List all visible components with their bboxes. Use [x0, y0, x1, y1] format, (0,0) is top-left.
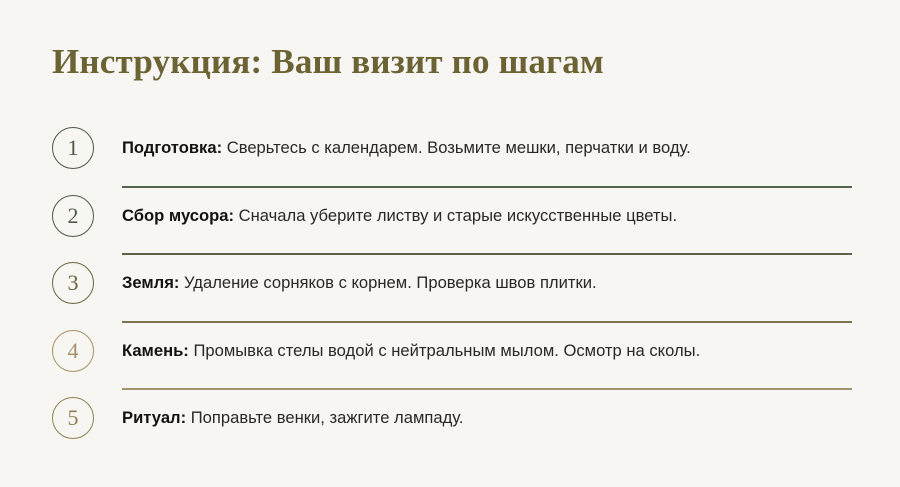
step-label: Сбор мусора:: [122, 206, 234, 225]
instruction-card: Инструкция: Ваш визит по шагам 1 Подгото…: [0, 0, 900, 487]
step-number-badge: 5: [52, 397, 94, 439]
step-description: Сверьтесь с календарем. Возьмите мешки, …: [222, 138, 691, 157]
step-description: Поправьте венки, зажгите лампаду.: [186, 408, 463, 427]
page-title: Инструкция: Ваш визит по шагам: [52, 42, 604, 82]
list-item: 4 Камень: Промывка стелы водой с нейтрал…: [52, 323, 852, 391]
step-label: Ритуал:: [122, 408, 186, 427]
step-label: Земля:: [122, 273, 179, 292]
list-item: 5 Ритуал: Поправьте венки, зажгите лампа…: [52, 390, 852, 458]
step-number-badge: 2: [52, 195, 94, 237]
step-description: Промывка стелы водой с нейтральным мылом…: [189, 341, 700, 360]
steps-list: 1 Подготовка: Сверьтесь с календарем. Во…: [52, 120, 852, 458]
list-item: 2 Сбор мусора: Сначала уберите листву и …: [52, 188, 852, 256]
step-description: Сначала уберите листву и старые искусств…: [234, 206, 677, 225]
step-description: Удаление сорняков с корнем. Проверка шво…: [179, 273, 596, 292]
step-text: Земля: Удаление сорняков с корнем. Прове…: [122, 272, 597, 294]
step-text: Ритуал: Поправьте венки, зажгите лампаду…: [122, 407, 464, 429]
step-label: Камень:: [122, 341, 189, 360]
step-number-badge: 3: [52, 262, 94, 304]
step-number-badge: 4: [52, 330, 94, 372]
list-item: 1 Подготовка: Сверьтесь с календарем. Во…: [52, 120, 852, 188]
step-text: Подготовка: Сверьтесь с календарем. Возь…: [122, 137, 691, 159]
step-text: Камень: Промывка стелы водой с нейтральн…: [122, 340, 700, 362]
step-label: Подготовка:: [122, 138, 222, 157]
step-text: Сбор мусора: Сначала уберите листву и ст…: [122, 205, 677, 227]
step-number-badge: 1: [52, 127, 94, 169]
list-item: 3 Земля: Удаление сорняков с корнем. Про…: [52, 255, 852, 323]
